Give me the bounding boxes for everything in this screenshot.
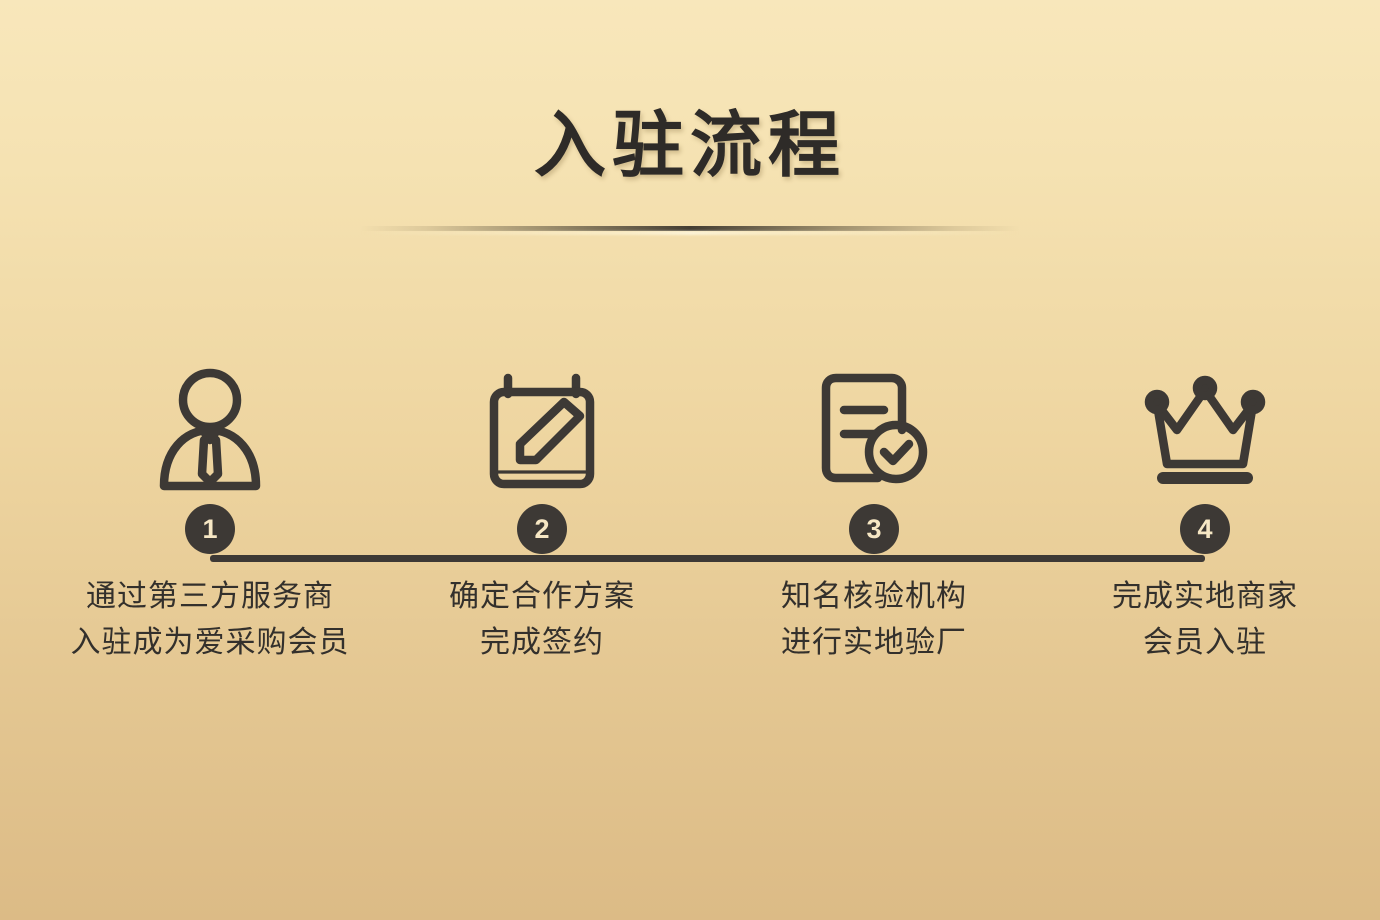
step-marker-4: 4 bbox=[1035, 500, 1375, 558]
step-label-1-line1: 通过第三方服务商 bbox=[40, 574, 380, 620]
step-label-4: 完成实地商家 会员入驻 bbox=[1035, 574, 1375, 665]
step-label-3: 知名核验机构 进行实地验厂 bbox=[704, 574, 1044, 665]
document-verified-icon bbox=[704, 360, 1044, 500]
process-steps: 1 通过第三方服务商 入驻成为爱采购会员 2 bbox=[0, 360, 1380, 740]
process-step-2: 2 确定合作方案 完成签约 bbox=[372, 360, 712, 665]
step-marker-3: 3 bbox=[704, 500, 1044, 558]
process-step-3: 3 知名核验机构 进行实地验厂 bbox=[704, 360, 1044, 665]
process-step-4: 4 完成实地商家 会员入驻 bbox=[1035, 360, 1375, 665]
step-number-2: 2 bbox=[517, 504, 567, 554]
step-label-1-line2: 入驻成为爱采购会员 bbox=[40, 620, 380, 666]
step-label-4-line2: 会员入驻 bbox=[1035, 620, 1375, 666]
step-label-3-line2: 进行实地验厂 bbox=[704, 620, 1044, 666]
step-label-2-line2: 完成签约 bbox=[372, 620, 712, 666]
step-number-1: 1 bbox=[185, 504, 235, 554]
page-title: 入驻流程 bbox=[0, 108, 1380, 186]
step-label-3-line1: 知名核验机构 bbox=[704, 574, 1044, 620]
step-label-2: 确定合作方案 完成签约 bbox=[372, 574, 712, 665]
step-label-1: 通过第三方服务商 入驻成为爱采购会员 bbox=[40, 574, 380, 665]
process-step-1: 1 通过第三方服务商 入驻成为爱采购会员 bbox=[40, 360, 380, 665]
onboarding-process-poster: 入驻流程 1 通过第三方服务商 入驻成为爱采购会员 bbox=[0, 0, 1380, 920]
step-label-4-line1: 完成实地商家 bbox=[1035, 574, 1375, 620]
step-number-4: 4 bbox=[1180, 504, 1230, 554]
step-label-2-line1: 确定合作方案 bbox=[372, 574, 712, 620]
title-divider bbox=[360, 226, 1020, 231]
step-marker-1: 1 bbox=[40, 500, 380, 558]
businessman-icon bbox=[40, 360, 380, 500]
crown-icon bbox=[1035, 360, 1375, 500]
title-block: 入驻流程 bbox=[0, 108, 1380, 186]
step-number-3: 3 bbox=[849, 504, 899, 554]
step-marker-2: 2 bbox=[372, 500, 712, 558]
contract-pencil-icon bbox=[372, 360, 712, 500]
